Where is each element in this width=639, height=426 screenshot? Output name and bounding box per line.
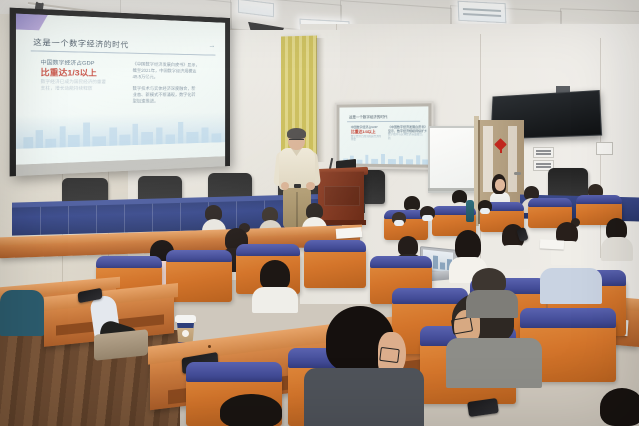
wall-display-right: 《中国数字经济发展白皮书》 显示，数字经济规模持续扩大 数字技术与实体经济深度融… — [388, 125, 426, 141]
wall-notice — [596, 142, 613, 155]
slide-right-column: 《中国数字经济发展白皮书》显示， 截至2021年，中国数字经济规模达 45.5万… — [133, 61, 214, 105]
projection-screen: 这是一个数字经济的时代 → 中国数字经济占GDP 比重达1/3以上 数字经济已成… — [10, 8, 230, 177]
presenter-hand-left — [281, 182, 289, 190]
audience-hair — [398, 236, 418, 256]
seat-top[interactable] — [392, 288, 468, 304]
seat-back[interactable] — [304, 246, 366, 288]
seat-top[interactable] — [304, 240, 366, 252]
audience-hair — [260, 260, 290, 290]
wall-display-right-faint: 数字技术与实体经济深度融合，新 — [388, 133, 426, 140]
presenter-glasses — [289, 139, 304, 143]
seat-top[interactable] — [528, 198, 572, 207]
presenter-leg-seam — [296, 192, 298, 228]
projected-slide: 这是一个数字经济的时代 → 中国数字经济占GDP 比重达1/3以上 数字经济已成… — [16, 14, 225, 165]
foreground-torso — [446, 338, 542, 388]
foreground-torso — [466, 290, 518, 318]
audience-hair — [455, 230, 481, 260]
slide-left-emphasis: 比重达1/3以上 — [41, 67, 126, 79]
presentation-clicker[interactable] — [294, 184, 301, 188]
wall-control-panel[interactable] — [533, 147, 554, 158]
wall-display-rule — [347, 121, 420, 122]
handout-paper[interactable] — [540, 239, 564, 249]
seat-top[interactable] — [96, 256, 162, 268]
seat-top[interactable] — [576, 195, 622, 204]
standing-attendee-face — [495, 179, 505, 191]
wall-display-slide: 这是一个数字经济的时代 中国数字经济占GDP 比重达1/3以上 数字经济已成为国… — [339, 106, 428, 164]
seat-top[interactable] — [520, 308, 616, 328]
whiteboard — [428, 126, 480, 193]
chinese-knot-decoration — [496, 140, 505, 152]
slide-left-column: 中国数字经济占GDP 比重达1/3以上 数字经济已成为国民经济的重要 支柱，增长… — [41, 59, 126, 92]
ceiling-light-panel — [458, 1, 507, 24]
lecture-hall-photo: 这是一个数字经济的时代 → 中国数字经济占GDP 比重达1/3以上 数字经济已成… — [0, 0, 639, 426]
seat-top[interactable] — [370, 256, 432, 268]
wall-display-left: 中国数字经济占GDP 比重达1/3以上 数字经济已成为国民经济的重要 — [351, 125, 382, 142]
presenter-hand-right — [306, 182, 315, 190]
whiteboard-tray — [428, 188, 476, 191]
water-bottle[interactable] — [466, 200, 474, 222]
presenter-hair — [287, 128, 306, 139]
arrow-icon: → — [208, 42, 215, 49]
smartphone[interactable] — [467, 398, 499, 417]
foreground-hair — [600, 388, 639, 426]
slide-corner-decoration — [16, 14, 48, 31]
audience-torso — [0, 290, 44, 336]
slide-right-line6: 型加速推进。 — [133, 98, 214, 105]
foreground-torso — [304, 368, 424, 426]
door-handle[interactable] — [514, 172, 521, 175]
wall-display-title: 这是一个数字经济的时代 — [349, 115, 388, 120]
foreground-hair — [220, 394, 282, 426]
skyline-graphic — [16, 112, 225, 149]
face-mask — [394, 220, 404, 226]
audience-torso — [252, 287, 298, 313]
face-mask — [422, 215, 433, 221]
audience-torso — [497, 245, 530, 269]
wall-display-faint: 数字经济已成为国民经济的重要 — [351, 135, 382, 142]
handout-paper[interactable] — [336, 227, 363, 239]
desk-screw — [208, 345, 211, 348]
audience-torso — [601, 237, 633, 261]
seat-top[interactable] — [166, 250, 232, 262]
seat-top[interactable] — [186, 362, 282, 382]
podium-front-panel — [324, 186, 360, 206]
slide-left-faint2: 支柱，增长动能持续释放 — [41, 85, 126, 92]
foreground-torso — [540, 268, 602, 304]
seat-top[interactable] — [236, 244, 300, 256]
face-mask — [480, 208, 490, 214]
